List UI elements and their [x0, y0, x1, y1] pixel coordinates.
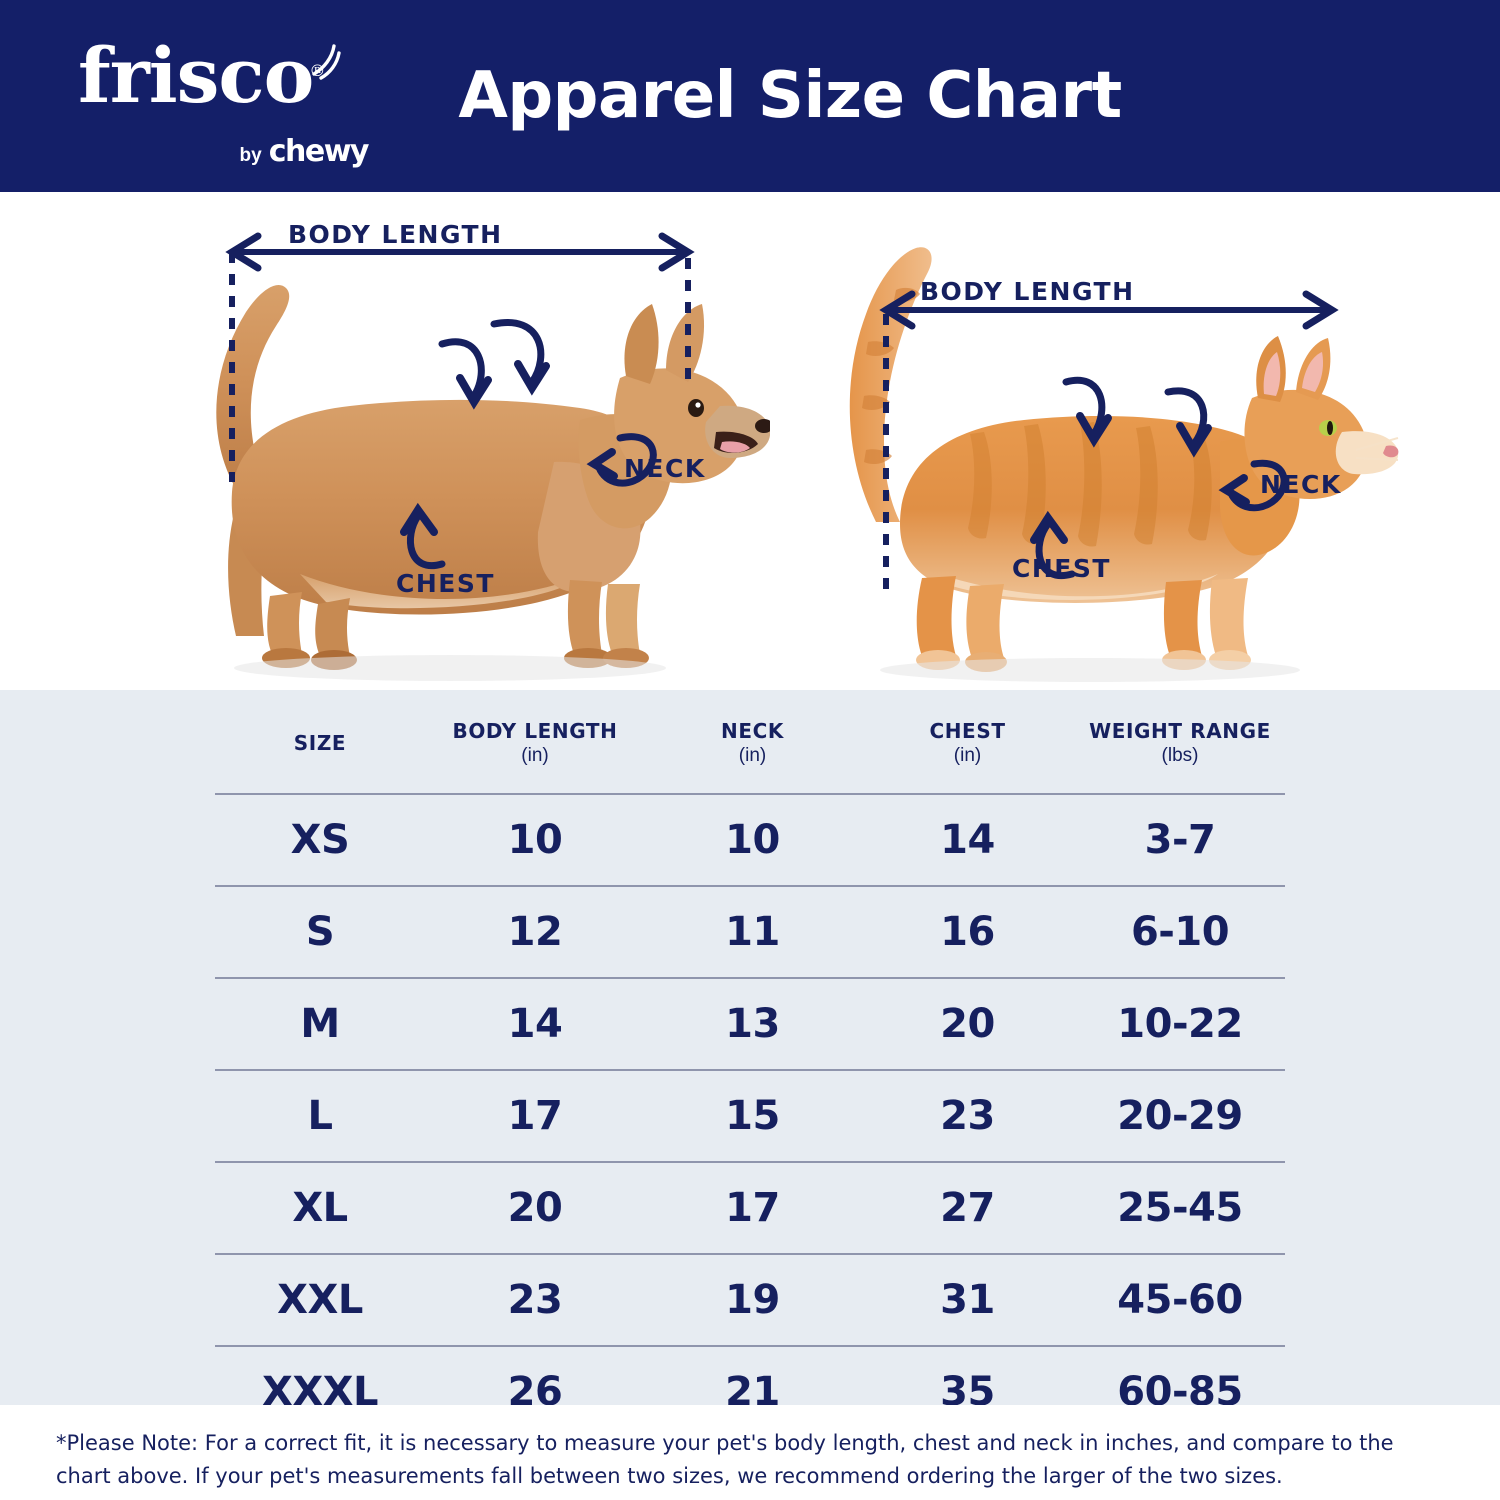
- cell-chest: 20: [860, 978, 1075, 1070]
- size-chart-page: frisco® by chewy Apparel Size Chart: [0, 0, 1500, 1500]
- cell-weight-range: 45-60: [1075, 1254, 1285, 1346]
- cat-chest-label: CHEST: [1012, 554, 1111, 583]
- cell-neck: 17: [645, 1162, 860, 1254]
- table-row: XS 10 10 14 3-7: [215, 794, 1285, 886]
- cell-weight-range: 20-29: [1075, 1070, 1285, 1162]
- cell-chest: 23: [860, 1070, 1075, 1162]
- page-title: Apparel Size Chart: [0, 0, 1500, 192]
- cell-body-length: 20: [425, 1162, 645, 1254]
- column-header-neck-label: NECK: [721, 719, 784, 743]
- footnote-text: *Please Note: For a correct fit, it is n…: [56, 1427, 1448, 1492]
- size-table-head: SIZE BODY LENGTH (in) NECK (in) CHEST (i…: [215, 712, 1285, 794]
- cell-chest: 27: [860, 1162, 1075, 1254]
- cell-size: L: [215, 1070, 425, 1162]
- cell-neck: 15: [645, 1070, 860, 1162]
- cat-body-length-label: BODY LENGTH: [920, 277, 1135, 306]
- table-row: M 14 13 20 10-22: [215, 978, 1285, 1070]
- size-table-body: XS 10 10 14 3-7 S 12 11 16 6-10 M 14 13: [215, 794, 1285, 1437]
- cell-body-length: 12: [425, 886, 645, 978]
- cell-size: XXL: [215, 1254, 425, 1346]
- table-row: S 12 11 16 6-10: [215, 886, 1285, 978]
- page-header: frisco® by chewy Apparel Size Chart: [0, 0, 1500, 192]
- column-header-body-length-unit: (in): [425, 745, 645, 767]
- dog-body-length-label: BODY LENGTH: [288, 220, 503, 249]
- column-header-body-length-label: BODY LENGTH: [452, 719, 617, 743]
- cell-neck: 10: [645, 794, 860, 886]
- table-row: XL 20 17 27 25-45: [215, 1162, 1285, 1254]
- column-header-neck: NECK (in): [645, 712, 860, 794]
- dog-neck-label: NECK: [624, 454, 706, 483]
- size-table: SIZE BODY LENGTH (in) NECK (in) CHEST (i…: [215, 712, 1285, 1437]
- cell-body-length: 23: [425, 1254, 645, 1346]
- dog-illustration: [150, 192, 770, 690]
- dog-chest-label: CHEST: [396, 569, 495, 598]
- cat-illustration: [780, 192, 1400, 690]
- cat-diagram: BODY LENGTH NECK CHEST: [780, 192, 1400, 690]
- cell-chest: 31: [860, 1254, 1075, 1346]
- cell-body-length: 14: [425, 978, 645, 1070]
- column-header-weight-range-label: WEIGHT RANGE: [1089, 719, 1271, 743]
- table-row: XXL 23 19 31 45-60: [215, 1254, 1285, 1346]
- column-header-chest-label: CHEST: [929, 719, 1005, 743]
- cell-weight-range: 10-22: [1075, 978, 1285, 1070]
- column-header-body-length: BODY LENGTH (in): [425, 712, 645, 794]
- table-row: L 17 15 23 20-29: [215, 1070, 1285, 1162]
- cell-weight-range: 25-45: [1075, 1162, 1285, 1254]
- cell-body-length: 10: [425, 794, 645, 886]
- column-header-size-label: SIZE: [294, 731, 346, 755]
- column-header-chest-unit: (in): [860, 745, 1075, 767]
- cell-size: XS: [215, 794, 425, 886]
- column-header-chest: CHEST (in): [860, 712, 1075, 794]
- illustration-area: BODY LENGTH NECK CHEST: [0, 192, 1500, 690]
- cell-neck: 13: [645, 978, 860, 1070]
- cell-chest: 16: [860, 886, 1075, 978]
- cell-size: M: [215, 978, 425, 1070]
- dog-girth-arrow-2: [494, 322, 546, 388]
- cell-neck: 11: [645, 886, 860, 978]
- column-header-size: SIZE: [215, 712, 425, 794]
- dog-girth-arrow-1: [442, 342, 488, 402]
- cell-neck: 19: [645, 1254, 860, 1346]
- cell-size: XL: [215, 1162, 425, 1254]
- cell-body-length: 17: [425, 1070, 645, 1162]
- cat-neck-label: NECK: [1260, 470, 1342, 499]
- column-header-weight-range: WEIGHT RANGE (lbs): [1075, 712, 1285, 794]
- cell-weight-range: 3-7: [1075, 794, 1285, 886]
- size-table-section: SIZE BODY LENGTH (in) NECK (in) CHEST (i…: [0, 690, 1500, 1405]
- column-header-neck-unit: (in): [645, 745, 860, 767]
- footnote-section: *Please Note: For a correct fit, it is n…: [0, 1405, 1500, 1500]
- cell-weight-range: 6-10: [1075, 886, 1285, 978]
- column-header-weight-range-unit: (lbs): [1075, 745, 1285, 767]
- cell-chest: 14: [860, 794, 1075, 886]
- cell-size: S: [215, 886, 425, 978]
- table-header-row: SIZE BODY LENGTH (in) NECK (in) CHEST (i…: [215, 712, 1285, 794]
- dog-diagram: BODY LENGTH NECK CHEST: [150, 192, 770, 690]
